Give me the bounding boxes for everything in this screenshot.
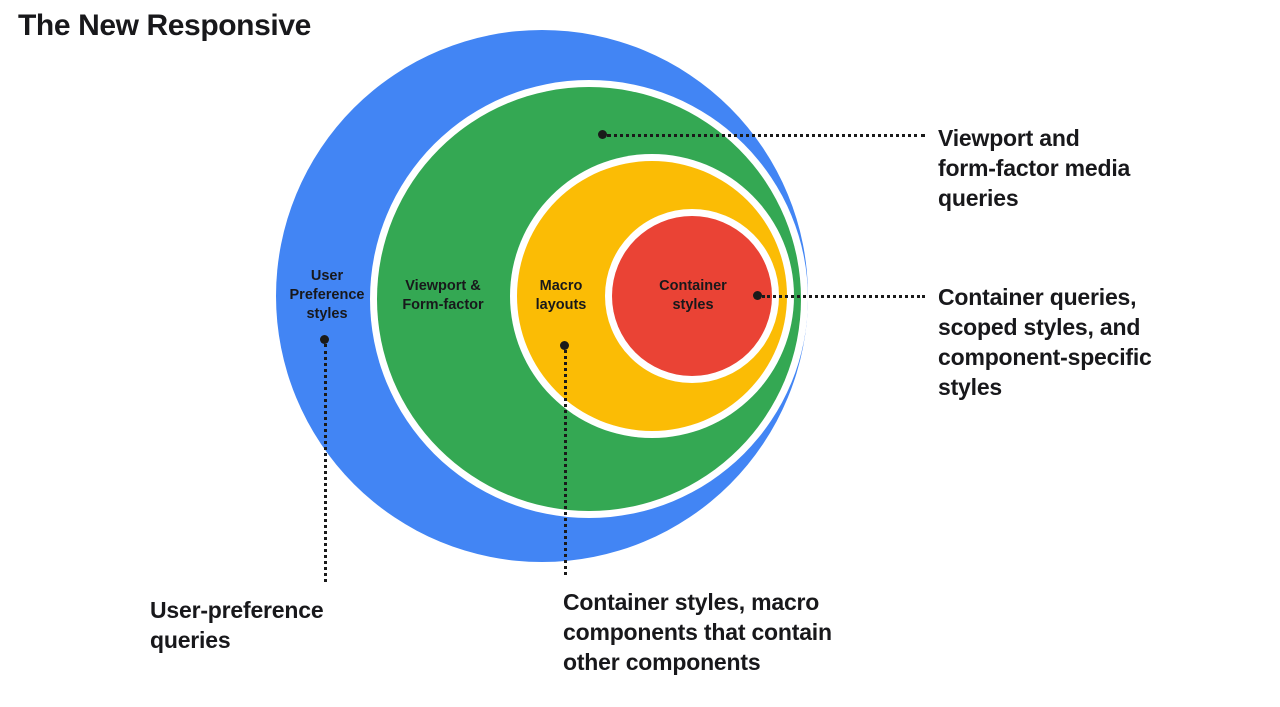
ring-label-container-styles: Container styles (637, 277, 749, 315)
ring-label-macro-layouts: Macro layouts (517, 277, 605, 315)
leader-line-container (762, 295, 925, 298)
leader-dot-viewport (598, 130, 607, 139)
leader-dot-user-preference (320, 335, 329, 344)
callout-macro-components: Container styles, macro components that … (563, 588, 1003, 678)
callout-user-preference-queries: User-preference queries (150, 596, 450, 656)
leader-dot-macro-layouts (560, 341, 569, 350)
callout-container-queries: Container queries, scoped styles, and co… (938, 283, 1274, 403)
leader-line-user-preference (324, 344, 327, 582)
leader-line-viewport (607, 134, 925, 137)
leader-dot-container (753, 291, 762, 300)
ring-label-user-preference: User Preference styles (281, 267, 373, 324)
leader-line-macro-layouts (564, 350, 567, 575)
slide-canvas: The New Responsive User Preference style… (0, 0, 1280, 707)
ring-label-viewport-form-factor: Viewport & Form-factor (381, 277, 505, 315)
callout-viewport-media-queries: Viewport and form-factor media queries (938, 124, 1268, 214)
